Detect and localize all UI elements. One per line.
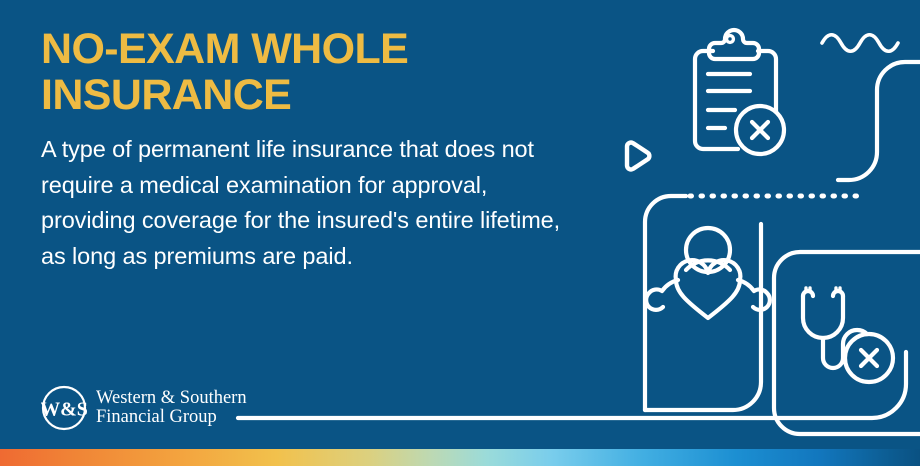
play-triangle-icon <box>627 143 649 170</box>
squiggle-icon <box>822 35 898 52</box>
stethoscope-earpiece-left-icon <box>803 291 813 296</box>
no-exam-whole-insurance-card: NO-EXAM WHOLE INSURANCE A type of perman… <box>0 0 920 466</box>
stethoscope-stem-icon <box>823 330 867 368</box>
x-circle-badge-icon-stethoscope <box>845 334 893 382</box>
person-card-frame <box>645 224 761 410</box>
person-arm-left-icon <box>646 280 678 310</box>
svg-text:W&S: W&S <box>41 399 87 421</box>
person-arm-right-icon <box>738 280 770 310</box>
clipboard-clip-icon <box>709 30 759 59</box>
clipboard-icon <box>695 51 738 149</box>
page-title: NO-EXAM WHOLE INSURANCE <box>41 26 601 118</box>
ws-monogram-icon: W&S <box>41 385 87 431</box>
clipboard-clip-hole-icon <box>727 36 734 43</box>
pipe-top-right <box>838 62 920 180</box>
stethoscope-tip-left-icon <box>806 288 810 291</box>
clipboard-icon-right <box>758 51 776 111</box>
brand-logo[interactable]: W&S Western & Southern Financial Group <box>41 385 247 431</box>
baseline-rule <box>238 352 906 418</box>
person-shoulders-icon <box>686 260 730 270</box>
stethoscope-tip-right-icon <box>836 288 840 291</box>
x-mark-icon-stethoscope <box>861 350 877 366</box>
heart-icon <box>676 260 741 318</box>
stethoscope-tube-icon <box>803 296 843 338</box>
stethoscope-earpiece-right-icon <box>833 291 843 296</box>
pipe-lower-left-corner <box>645 196 686 410</box>
bottom-gradient-stripe <box>0 449 920 466</box>
x-circle-badge-icon-clipboard <box>736 106 784 154</box>
x-mark-icon-clipboard <box>752 122 768 138</box>
text-column: NO-EXAM WHOLE INSURANCE A type of perman… <box>41 26 601 274</box>
brand-wordmark: Western & Southern Financial Group <box>96 389 247 428</box>
stethoscope-card-frame <box>774 252 920 434</box>
person-head-icon <box>686 228 730 272</box>
definition-body-text: A type of permanent life insurance that … <box>41 132 571 274</box>
